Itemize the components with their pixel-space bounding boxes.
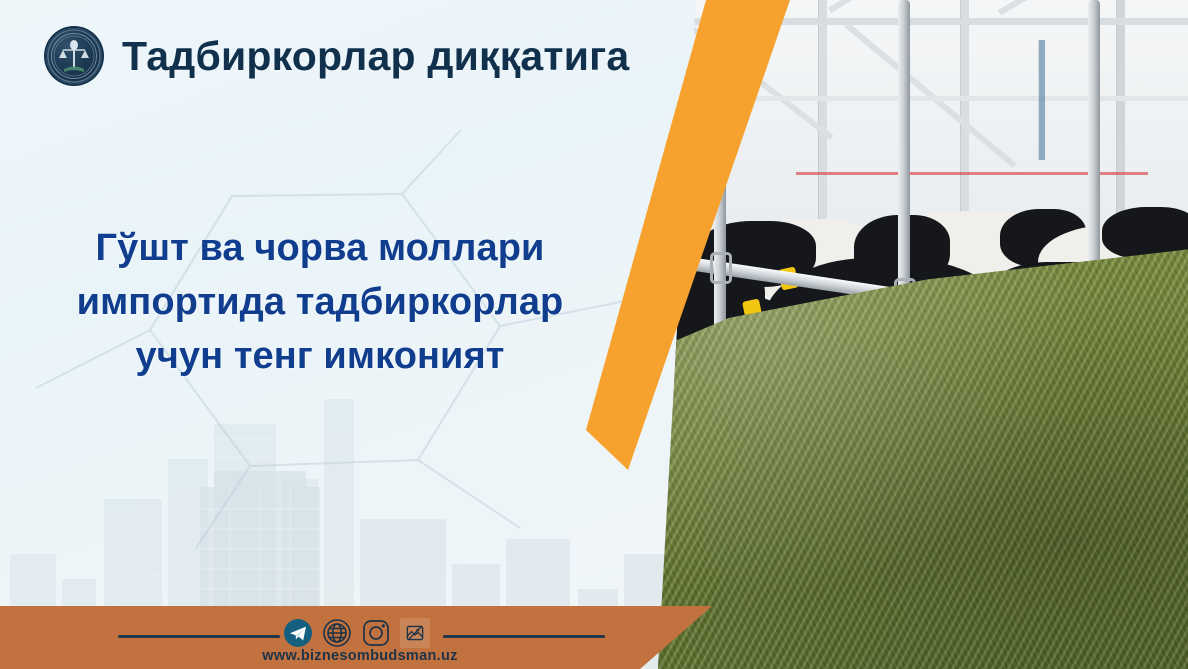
headline-line-1: Гўшт ва чорва моллари (0, 222, 640, 276)
telegram-icon[interactable] (283, 618, 313, 648)
footer-divider-left (118, 635, 280, 638)
website-url[interactable]: www.biznesombudsman.uz (0, 648, 720, 664)
globe-icon[interactable] (322, 618, 352, 648)
page-title: Тадбиркорлар диққатига (122, 33, 629, 80)
footer-divider-right (443, 635, 605, 638)
social-links (283, 618, 430, 648)
business-ombudsman-emblem-icon (46, 28, 102, 84)
poster-canvas: Тадбиркорлар диққатига Гўшт ва чорва мол… (0, 0, 1188, 669)
header: Тадбиркорлар диққатига (46, 28, 629, 84)
headline: Гўшт ва чорва моллари импортида тадбирко… (0, 222, 640, 384)
headline-line-2: импортида тадбиркорлар (0, 276, 640, 330)
headline-line-3: учун тенг имконият (0, 330, 640, 384)
instagram-icon[interactable] (361, 618, 391, 648)
broken-image-icon[interactable] (400, 618, 430, 648)
